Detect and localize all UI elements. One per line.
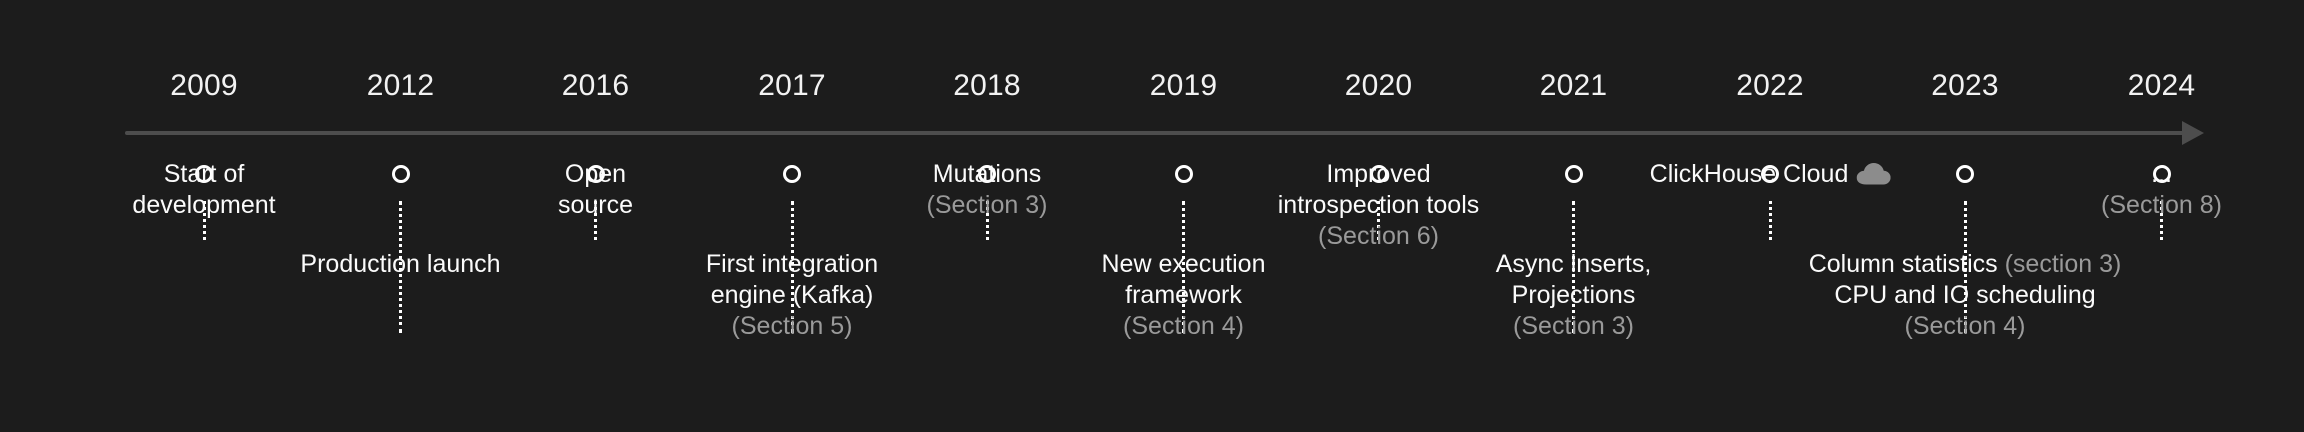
event-section-ref: (Section 3)	[1496, 311, 1652, 342]
event-label-block: First integrationengine (Kafka)(Section …	[706, 249, 878, 341]
event-label-block: Improvedintrospection tools(Section 6)	[1278, 159, 1480, 251]
event-label-text: ClickHouse Cloud	[1650, 160, 1849, 188]
event-label-text: engine (Kafka)	[711, 281, 874, 309]
event-label-text: (Section 8)	[2101, 191, 2222, 219]
event-year-label: 2021	[1540, 69, 1608, 103]
event-section-ref: (Section 6)	[1278, 221, 1480, 252]
event-label-text: source	[558, 191, 633, 219]
event-label-text: New execution	[1102, 250, 1266, 278]
event-label-text: introspection tools	[1278, 191, 1480, 219]
timeline-axis-line	[125, 131, 2190, 135]
event-section-ref: (Section 5)	[706, 311, 878, 342]
event-label-text: Production launch	[300, 250, 500, 278]
event-year-label: 2016	[562, 69, 630, 103]
event-section-ref: (Section 3)	[927, 190, 1048, 221]
event-label-text: CPU and IO scheduling	[1834, 281, 2095, 309]
event-label-block: Async inserts,Projections(Section 3)	[1496, 249, 1652, 341]
event-label-block: ...(Section 8)	[2101, 159, 2222, 221]
event-label-block: New executionframework(Section 4)	[1102, 249, 1266, 341]
event-label-text: Mutations	[933, 160, 1041, 188]
event-year-label: 2023	[1931, 69, 1999, 103]
event-year-label: 2018	[953, 69, 1021, 103]
event-label-block: Mutations(Section 3)	[927, 159, 1048, 221]
event-label-line: engine (Kafka)	[706, 280, 878, 311]
event-section-ref: (Section 8)	[2101, 190, 2222, 221]
event-label-line: framework	[1102, 280, 1266, 311]
event-label-text: development	[132, 191, 275, 219]
event-label-text: (Section 6)	[1318, 222, 1439, 250]
event-label-text: Improved	[1326, 160, 1430, 188]
event-label-block: Opensource	[558, 159, 633, 221]
event-label-line: Async inserts,	[1496, 249, 1652, 280]
event-label-block: Column statistics (section 3)CPU and IO …	[1809, 249, 2122, 341]
event-label-text: (Section 4)	[1905, 312, 2026, 340]
event-year-label: 2020	[1345, 69, 1413, 103]
event-year-label: 2024	[2128, 69, 2196, 103]
event-label-line: ...	[2101, 159, 2222, 190]
event-label-block: ClickHouse Cloud	[1650, 159, 1891, 193]
event-label-text: Async inserts,	[1496, 250, 1652, 278]
event-label-line: CPU and IO scheduling	[1809, 280, 2122, 311]
event-label-line: Open	[558, 159, 633, 190]
event-label-line: introspection tools	[1278, 190, 1480, 221]
event-label-line: Projections	[1496, 280, 1652, 311]
event-connector-stem	[1769, 201, 1775, 240]
event-label-text: (Section 4)	[1123, 312, 1244, 340]
event-label-text: Open	[565, 160, 626, 188]
event-label-text: Start of	[164, 160, 245, 188]
event-year-label: 2022	[1736, 69, 1804, 103]
event-section-ref: (section 3)	[2005, 250, 2122, 278]
event-label-text: framework	[1125, 281, 1242, 309]
timeline-diagram: 2009Start ofdevelopment2012Production la…	[0, 0, 2304, 432]
event-label-line: Production launch	[300, 249, 500, 280]
event-label-block: Start ofdevelopment	[132, 159, 275, 221]
event-year-label: 2009	[170, 69, 238, 103]
event-label-line: Improved	[1278, 159, 1480, 190]
event-label-block: Production launch	[300, 249, 500, 280]
event-label-line: First integration	[706, 249, 878, 280]
event-marker-circle[interactable]	[783, 165, 801, 183]
event-section-ref: (Section 4)	[1102, 311, 1266, 342]
event-marker-circle[interactable]	[1565, 165, 1583, 183]
event-marker-circle[interactable]	[392, 165, 410, 183]
event-label-text: Projections	[1512, 281, 1636, 309]
event-label-line: Mutations	[927, 159, 1048, 190]
event-label-text: (Section 3)	[1513, 312, 1634, 340]
event-label-line: Column statistics (section 3)	[1809, 249, 2122, 280]
event-section-ref: (Section 4)	[1809, 311, 2122, 342]
event-label-line: New execution	[1102, 249, 1266, 280]
event-label-text: Column statistics	[1809, 250, 2005, 278]
event-marker-circle[interactable]	[1175, 165, 1193, 183]
cloud-icon	[1856, 162, 1890, 193]
event-label-line: Start of	[132, 159, 275, 190]
event-label-text: (Section 5)	[732, 312, 853, 340]
event-label-line: development	[132, 190, 275, 221]
event-label-line: ClickHouse Cloud	[1650, 159, 1891, 193]
event-label-text: First integration	[706, 250, 878, 278]
timeline-arrow-icon	[2182, 121, 2204, 145]
event-label-text: ...	[2151, 160, 2172, 188]
event-year-label: 2017	[758, 69, 826, 103]
event-marker-circle[interactable]	[1956, 165, 1974, 183]
event-year-label: 2012	[367, 69, 435, 103]
event-year-label: 2019	[1150, 69, 1218, 103]
event-label-text: (Section 3)	[927, 191, 1048, 219]
event-label-line: source	[558, 190, 633, 221]
